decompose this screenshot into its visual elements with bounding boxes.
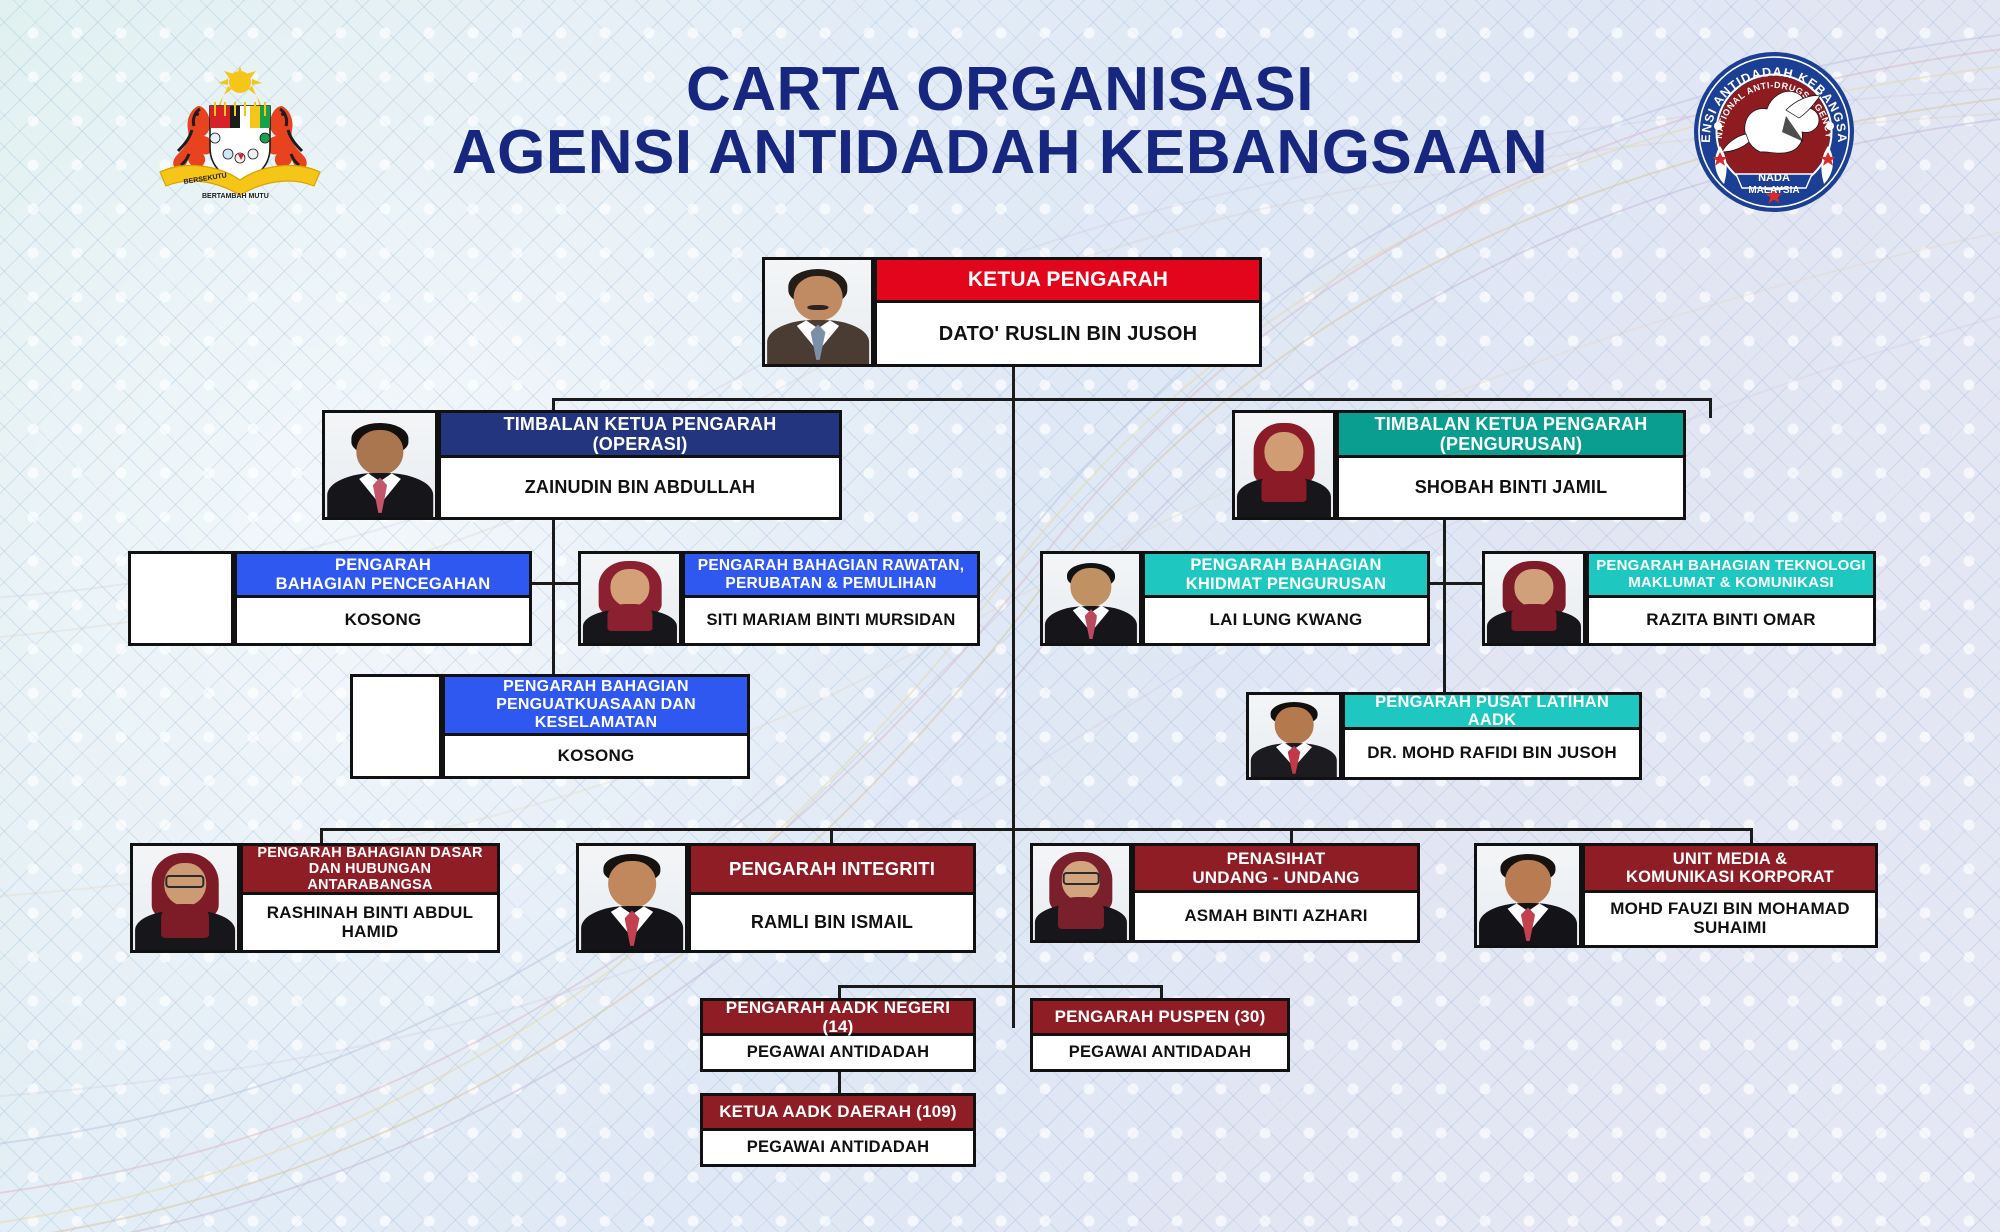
node-pengarah-ict[interactable]: PENGARAH BAHAGIAN TEKNOLOGI MAKLUMAT & K… [1482, 551, 1876, 646]
node-tkp-pengurusan[interactable]: TIMBALAN KETUA PENGARAH (PENGURUSAN) SHO… [1232, 410, 1686, 520]
title-unit-media: UNIT MEDIA & KOMUNIKASI KORPORAT [1582, 843, 1878, 893]
photo-placeholder-pencegahan [128, 551, 234, 646]
svg-text:NADA: NADA [1758, 172, 1790, 184]
name-pengarah-ict: RAZITA BINTI OMAR [1586, 598, 1876, 646]
connector-to-negeri [838, 985, 841, 999]
node-penasihat-undang[interactable]: PENASIHAT UNDANG - UNDANG ASMAH BINTI AZ… [1030, 843, 1420, 943]
node-unit-media[interactable]: UNIT MEDIA & KOMUNIKASI KORPORAT MOHD FA… [1474, 843, 1878, 948]
name-pengarah-pencegahan: KOSONG [234, 598, 532, 646]
photo-pengarah-pusat-latihan [1246, 692, 1342, 780]
title-pengarah-integriti: PENGARAH INTEGRITI [688, 843, 976, 895]
node-pengarah-penguatkuasaan[interactable]: PENGARAH BAHAGIAN PENGUATKUASAAN DAN KES… [350, 674, 750, 779]
name-ketua-aadk-daerah: PEGAWAI ANTIDADAH [700, 1131, 976, 1167]
photo-tkp-operasi [322, 410, 438, 520]
node-ketua-pengarah[interactable]: KETUA PENGARAH DATO' RUSLIN BIN JUSOH [762, 257, 1262, 367]
photo-tkp-pengurusan [1232, 410, 1336, 520]
connector-tkp-peng-drop [1709, 398, 1712, 418]
svg-text:MALAYSIA: MALAYSIA [1748, 185, 1799, 196]
name-pengarah-khidmat-pengurusan: LAI LUNG KWANG [1142, 598, 1430, 646]
photo-pengarah-khidmat-pengurusan [1040, 551, 1142, 646]
name-unit-media: MOHD FAUZI BIN MOHAMAD SUHAIMI [1582, 893, 1878, 948]
connector-tkp-bus [552, 398, 1712, 401]
connector-ops-stem [552, 518, 555, 582]
node-pengarah-integriti[interactable]: PENGARAH INTEGRITI RAMLI BIN ISMAIL [576, 843, 976, 953]
name-pengarah-penguatkuasaan: KOSONG [442, 736, 750, 779]
photo-unit-media [1474, 843, 1582, 948]
name-pengarah-puspen: PEGAWAI ANTIDADAH [1030, 1036, 1290, 1072]
node-pengarah-dasar[interactable]: PENGARAH BAHAGIAN DASAR DAN HUBUNGAN ANT… [130, 843, 500, 953]
svg-text:BERTAMBAH MUTU: BERTAMBAH MUTU [202, 193, 269, 200]
node-pengarah-aadk-negeri[interactable]: PENGARAH AADK NEGERI (14) PEGAWAI ANTIDA… [700, 998, 976, 1072]
photo-placeholder-penguatkuasaan [350, 674, 442, 779]
connector-peng-stem [1443, 518, 1446, 582]
name-penasihat-undang: ASMAH BINTI AZHARI [1132, 893, 1420, 943]
node-tkp-operasi[interactable]: TIMBALAN KETUA PENGARAH (OPERASI) ZAINUD… [322, 410, 842, 520]
title-pengarah-aadk-negeri: PENGARAH AADK NEGERI (14) [700, 998, 976, 1036]
malaysia-coat-of-arms-icon: BERSEKUTU BERTAMBAH MUTU [140, 62, 340, 202]
title-pengarah-ict: PENGARAH BAHAGIAN TEKNOLOGI MAKLUMAT & K… [1586, 551, 1876, 598]
node-pengarah-pusat-latihan[interactable]: PENGARAH PUSAT LATIHAN AADK DR. MOHD RAF… [1246, 692, 1642, 780]
node-pengarah-puspen[interactable]: PENGARAH PUSPEN (30) PEGAWAI ANTIDADAH [1030, 998, 1290, 1072]
name-tkp-pengurusan: SHOBAH BINTI JAMIL [1336, 458, 1686, 520]
photo-pengarah-ict [1482, 551, 1586, 646]
page-title-line2: AGENSI ANTIDADAH KEBANGSAAN [330, 121, 1670, 184]
org-chart-sheet: BERSEKUTU BERTAMBAH MUTU AGENSI ANTIDADA… [0, 0, 2000, 1232]
connector-peng-to-latihan [1443, 582, 1446, 692]
title-pengarah-penguatkuasaan: PENGARAH BAHAGIAN PENGUATKUASAAN DAN KES… [442, 674, 750, 736]
chart-header: BERSEKUTU BERTAMBAH MUTU AGENSI ANTIDADA… [0, 0, 2000, 240]
title-penasihat-undang: PENASIHAT UNDANG - UNDANG [1132, 843, 1420, 893]
photo-pengarah-integriti [576, 843, 688, 953]
name-pengarah-integriti: RAMLI BIN ISMAIL [688, 895, 976, 953]
connector-bottom-bus [838, 985, 1160, 988]
photo-pengarah-rawatan [578, 551, 682, 646]
photo-penasihat-undang [1030, 843, 1132, 943]
title-pengarah-puspen: PENGARAH PUSPEN (30) [1030, 998, 1290, 1036]
page-title: CARTA ORGANISASI AGENSI ANTIDADAH KEBANG… [330, 58, 1670, 184]
page-title-line1: CARTA ORGANISASI [686, 55, 1314, 124]
node-pengarah-pencegahan[interactable]: PENGARAH BAHAGIAN PENCEGAHAN KOSONG [128, 551, 532, 646]
aadk-agency-seal-icon: AGENSI ANTIDADAH KEBANGSAAN NATIONAL ANT… [1690, 48, 1858, 216]
title-ketua-aadk-daerah: KETUA AADK DAERAH (109) [700, 1093, 976, 1131]
title-tkp-pengurusan: TIMBALAN KETUA PENGARAH (PENGURUSAN) [1336, 410, 1686, 458]
node-ketua-aadk-daerah[interactable]: KETUA AADK DAERAH (109) PEGAWAI ANTIDADA… [700, 1093, 976, 1167]
connector-negeri-to-daerah [838, 1070, 841, 1094]
connector-to-puspen [1160, 985, 1163, 999]
photo-pengarah-dasar [130, 843, 240, 953]
title-pengarah-pusat-latihan: PENGARAH PUSAT LATIHAN AADK [1342, 692, 1642, 730]
connector-kp-down [1012, 365, 1015, 400]
name-tkp-operasi: ZAINUDIN BIN ABDULLAH [438, 458, 842, 520]
photo-ketua-pengarah [762, 257, 874, 367]
name-pengarah-rawatan: SITI MARIAM BINTI MURSIDAN [682, 598, 980, 646]
node-pengarah-khidmat-pengurusan[interactable]: PENGARAH BAHAGIAN KHIDMAT PENGURUSAN LAI… [1040, 551, 1430, 646]
name-pengarah-pusat-latihan: DR. MOHD RAFIDI BIN JUSOH [1342, 730, 1642, 780]
title-pengarah-dasar: PENGARAH BAHAGIAN DASAR DAN HUBUNGAN ANT… [240, 843, 500, 895]
title-pengarah-khidmat-pengurusan: PENGARAH BAHAGIAN KHIDMAT PENGURUSAN [1142, 551, 1430, 598]
node-pengarah-rawatan[interactable]: PENGARAH BAHAGIAN RAWATAN, PERUBATAN & P… [578, 551, 980, 646]
name-pengarah-aadk-negeri: PEGAWAI ANTIDADAH [700, 1036, 976, 1072]
title-pengarah-rawatan: PENGARAH BAHAGIAN RAWATAN, PERUBATAN & P… [682, 551, 980, 598]
name-pengarah-dasar: RASHINAH BINTI ABDUL HAMID [240, 895, 500, 953]
connector-staff-bus [320, 828, 1750, 831]
title-ketua-pengarah: KETUA PENGARAH [874, 257, 1262, 303]
name-ketua-pengarah: DATO' RUSLIN BIN JUSOH [874, 303, 1262, 367]
connector-ops-to-penguat [552, 582, 555, 674]
title-tkp-operasi: TIMBALAN KETUA PENGARAH (OPERASI) [438, 410, 842, 458]
connector-main-trunk [1012, 398, 1015, 1028]
title-pengarah-pencegahan: PENGARAH BAHAGIAN PENCEGAHAN [234, 551, 532, 598]
